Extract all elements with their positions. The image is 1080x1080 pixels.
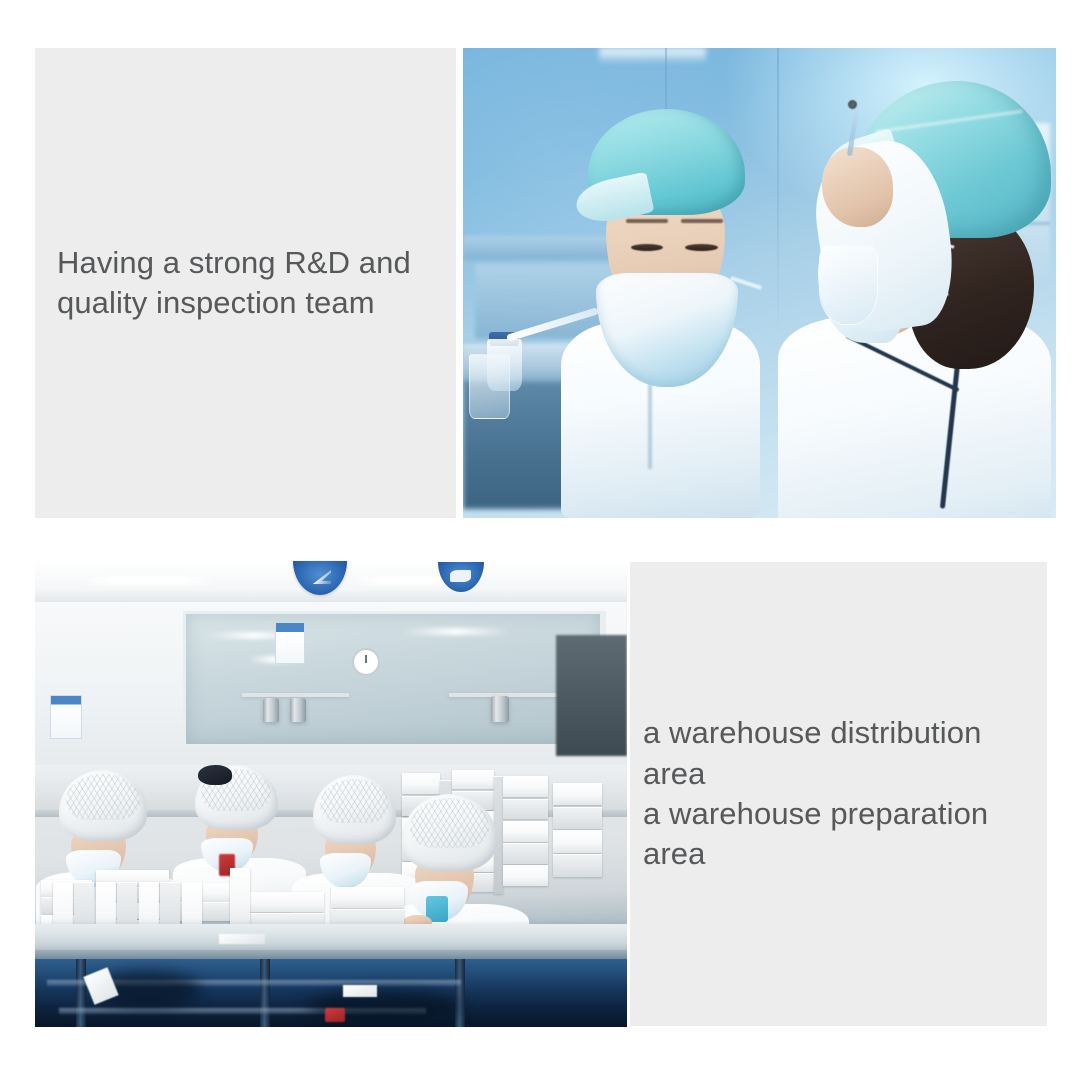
warehouse-scene — [35, 560, 627, 1027]
carton — [452, 770, 495, 789]
steel-canister — [290, 698, 306, 722]
rd-caption: Having a strong R&D and quality inspecti… — [57, 243, 411, 324]
carton — [503, 799, 548, 820]
carton — [503, 843, 548, 864]
steel-work-table — [35, 924, 627, 953]
carton — [553, 783, 602, 805]
lab-ceiling-light — [599, 48, 706, 64]
loose-paper — [219, 934, 265, 944]
ceiling-light — [71, 576, 225, 585]
warehouse-caption-panel: a warehouse distribution area a warehous… — [630, 562, 1047, 1026]
rd-caption-line-2: quality inspection team — [57, 283, 411, 323]
red-item — [325, 1008, 345, 1022]
showcase-page: Having a strong R&D and quality inspecti… — [0, 0, 1080, 1080]
technician-eye — [685, 244, 717, 251]
carton — [402, 773, 440, 794]
carton — [553, 830, 602, 852]
carton — [331, 887, 404, 909]
steel-canister — [491, 696, 509, 722]
interior-lamp — [402, 628, 509, 635]
glass-flask — [819, 245, 878, 325]
lab-technician-front — [546, 109, 795, 518]
warehouse-caption-line-1: a warehouse distribution area — [643, 713, 1047, 794]
steel-canister — [263, 698, 279, 722]
rd-caption-line-1: Having a strong R&D and — [57, 243, 411, 283]
loose-paper — [343, 985, 377, 997]
lab-scene — [463, 48, 1056, 518]
interior-shelf — [242, 693, 349, 697]
technician-eye — [631, 244, 663, 251]
hair-net — [59, 770, 148, 841]
technician-brow — [626, 219, 668, 223]
window-mullion — [183, 611, 186, 746]
carton — [553, 807, 602, 829]
hair-net — [402, 794, 497, 871]
wall-clock — [352, 648, 380, 676]
carton — [503, 865, 548, 886]
carton-tall — [230, 868, 250, 929]
rd-caption-panel: Having a strong R&D and quality inspecti… — [35, 48, 456, 518]
technician-brow — [681, 219, 723, 223]
wall-notice — [275, 622, 305, 664]
hair-net — [313, 775, 396, 844]
carton — [553, 854, 602, 876]
table-leg — [260, 959, 270, 1027]
carton — [503, 776, 548, 797]
warehouse-caption: a warehouse distribution area a warehous… — [643, 713, 1047, 874]
interior-doorway — [556, 635, 627, 756]
warehouse-caption-line-2: a warehouse preparation area — [643, 794, 1047, 875]
table-leg — [76, 959, 86, 1027]
wall-notice — [50, 695, 82, 739]
gloved-hand — [822, 147, 893, 227]
carton — [503, 821, 548, 842]
lab-reagent-bottle — [487, 339, 523, 391]
table-leg — [455, 959, 465, 1027]
dark-cap — [198, 765, 232, 785]
carton — [243, 892, 324, 912]
warehouse-photo — [35, 560, 627, 1027]
rd-lab-photo — [463, 48, 1056, 518]
